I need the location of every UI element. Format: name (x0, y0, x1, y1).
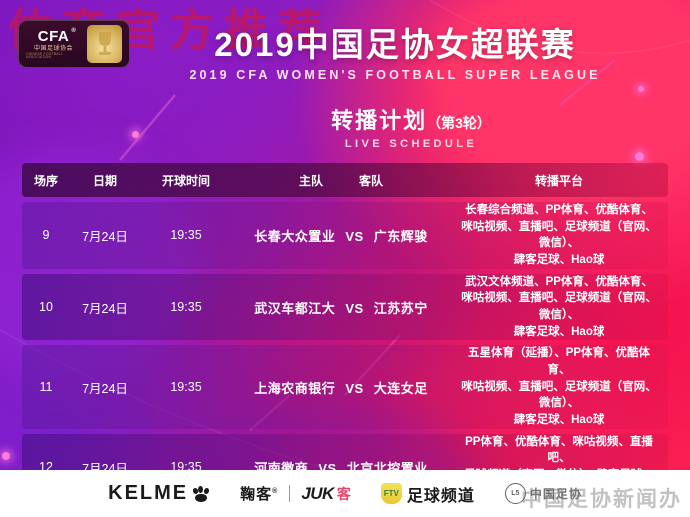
platform-line: 五星体育（延播）、PP体育、优酷体育、 (458, 345, 660, 378)
platform-line: 肆客足球、Hao球 (458, 324, 660, 341)
cell-vs: VS (345, 301, 363, 316)
platform-line: 肆客足球、Hao球 (458, 412, 660, 429)
ftv-label: 足球频道 (407, 482, 475, 506)
sponsor-bar: KELME 鞠客® JUK 客 FTV 足球频道 L5 中国足协 (0, 470, 690, 517)
juke-cn-label: 鞠客® (240, 483, 278, 504)
kelme-label: KELME (108, 482, 188, 505)
cell-kickoff: 19:35 (140, 228, 232, 242)
platform-line: 肆客足球、Hao球 (458, 252, 660, 269)
column-header-away: 客队 (359, 172, 383, 189)
decorative-dot (2, 452, 10, 460)
cell-date: 7月24日 (70, 298, 140, 317)
cell-no: 10 (22, 300, 70, 314)
cell-platform: 长春综合频道、PP体育、优酷体育、 咪咕视频、直播吧、足球频道（官网、微信）、 … (450, 202, 668, 269)
platform-line: PP体育、优酷体育、咪咕视频、直播吧、 (458, 434, 660, 467)
cfa-news-label: 中国足协 (530, 485, 582, 502)
cell-kickoff: 19:35 (140, 300, 232, 314)
platform-line: 武汉文体频道、PP体育、优酷体育、 (458, 274, 660, 291)
column-header-kickoff: 开球时间 (140, 172, 232, 189)
cell-vs: VS (345, 229, 363, 244)
cell-teams: 长春大众置业 VS 广东辉骏 (232, 226, 450, 245)
page-title-en: 2019 CFA WOMEN'S FOOTBALL SUPER LEAGUE (110, 68, 680, 82)
table-row: 11 7月24日 19:35 上海农商银行 VS 大连女足 五星体育（延播）、P… (22, 345, 668, 428)
cell-no: 9 (22, 228, 70, 242)
cell-teams: 武汉车都江大 VS 江苏苏宁 (232, 298, 450, 317)
cell-home: 长春大众置业 (254, 229, 335, 244)
juke-seal-icon: 客 (337, 484, 351, 504)
page-title: 2019中国足协女超联赛 (110, 28, 680, 63)
cell-away: 江苏苏宁 (374, 301, 428, 316)
schedule-table: 场序 日期 开球时间 主队 客队 转播平台 9 7月24日 19:35 长春大众… (22, 163, 668, 500)
cell-away: 广东辉骏 (374, 229, 428, 244)
sponsor-kelme: KELME (108, 482, 210, 505)
cell-kickoff: 19:35 (140, 380, 232, 394)
subtitle-round: （第3轮） (427, 115, 491, 131)
cell-platform: 武汉文体频道、PP体育、优酷体育、 咪咕视频、直播吧、足球频道（官网、微信）、 … (450, 274, 668, 341)
column-header-platform: 转播平台 (450, 172, 668, 189)
column-header-teams: 主队 客队 (232, 172, 450, 189)
decorative-dot (638, 86, 644, 92)
sponsor-cfa-news: L5 中国足协 (505, 483, 582, 504)
table-row: 10 7月24日 19:35 武汉车都江大 VS 江苏苏宁 武汉文体频道、PP体… (22, 274, 668, 341)
column-header-no: 场序 (22, 172, 70, 189)
cell-platform: 五星体育（延播）、PP体育、优酷体育、 咪咕视频、直播吧、足球频道（官网、微信）… (450, 345, 668, 428)
platform-line: 咪咕视频、直播吧、足球频道（官网、微信）、 (458, 379, 660, 412)
platform-line: 咪咕视频、直播吧、足球频道（官网、微信）、 (458, 219, 660, 252)
cell-vs: VS (345, 381, 363, 396)
subtitle-en: LIVE SCHEDULE (150, 138, 672, 150)
table-row: 9 7月24日 19:35 长春大众置业 VS 广东辉骏 长春综合频道、PP体育… (22, 202, 668, 269)
platform-line: 咪咕视频、直播吧、足球频道（官网、微信）、 (458, 290, 660, 323)
juke-registered: ® (272, 488, 278, 495)
cell-date: 7月24日 (70, 378, 140, 397)
cell-teams: 上海农商银行 VS 大连女足 (232, 378, 450, 397)
subtitle: 转播计划（第3轮） (150, 103, 672, 135)
cell-away: 大连女足 (374, 381, 428, 396)
decorative-dot (635, 152, 644, 161)
paw-icon (193, 486, 210, 502)
football-icon: L5 (505, 483, 526, 504)
header-subtitle-block: 转播计划（第3轮） LIVE SCHEDULE (0, 103, 672, 150)
column-header-date: 日期 (70, 172, 140, 189)
cell-date: 7月24日 (70, 226, 140, 245)
cell-home: 上海农商银行 (254, 381, 335, 396)
sponsor-juke: 鞠客® JUK 客 (240, 483, 351, 504)
platform-line: 长春综合频道、PP体育、优酷体育、 (458, 202, 660, 219)
ftv-shield-icon: FTV (381, 483, 402, 504)
juke-en-label: JUK (301, 484, 334, 504)
table-header-row: 场序 日期 开球时间 主队 客队 转播平台 (22, 163, 668, 197)
column-header-home: 主队 (299, 172, 323, 189)
cell-no: 11 (22, 380, 70, 394)
divider (289, 485, 290, 502)
header-title-block: 2019中国足协女超联赛 2019 CFA WOMEN'S FOOTBALL S… (0, 28, 680, 82)
sponsor-football-channel: FTV 足球频道 (381, 482, 475, 506)
poster-root: 体育官方推荐 CFA® 中国足球协会 CHINESE FOOTBALL ASSO… (0, 0, 690, 517)
cell-home: 武汉车都江大 (254, 301, 335, 316)
juke-cn-text: 鞠客 (240, 486, 272, 503)
subtitle-text: 转播计划 (331, 108, 427, 133)
